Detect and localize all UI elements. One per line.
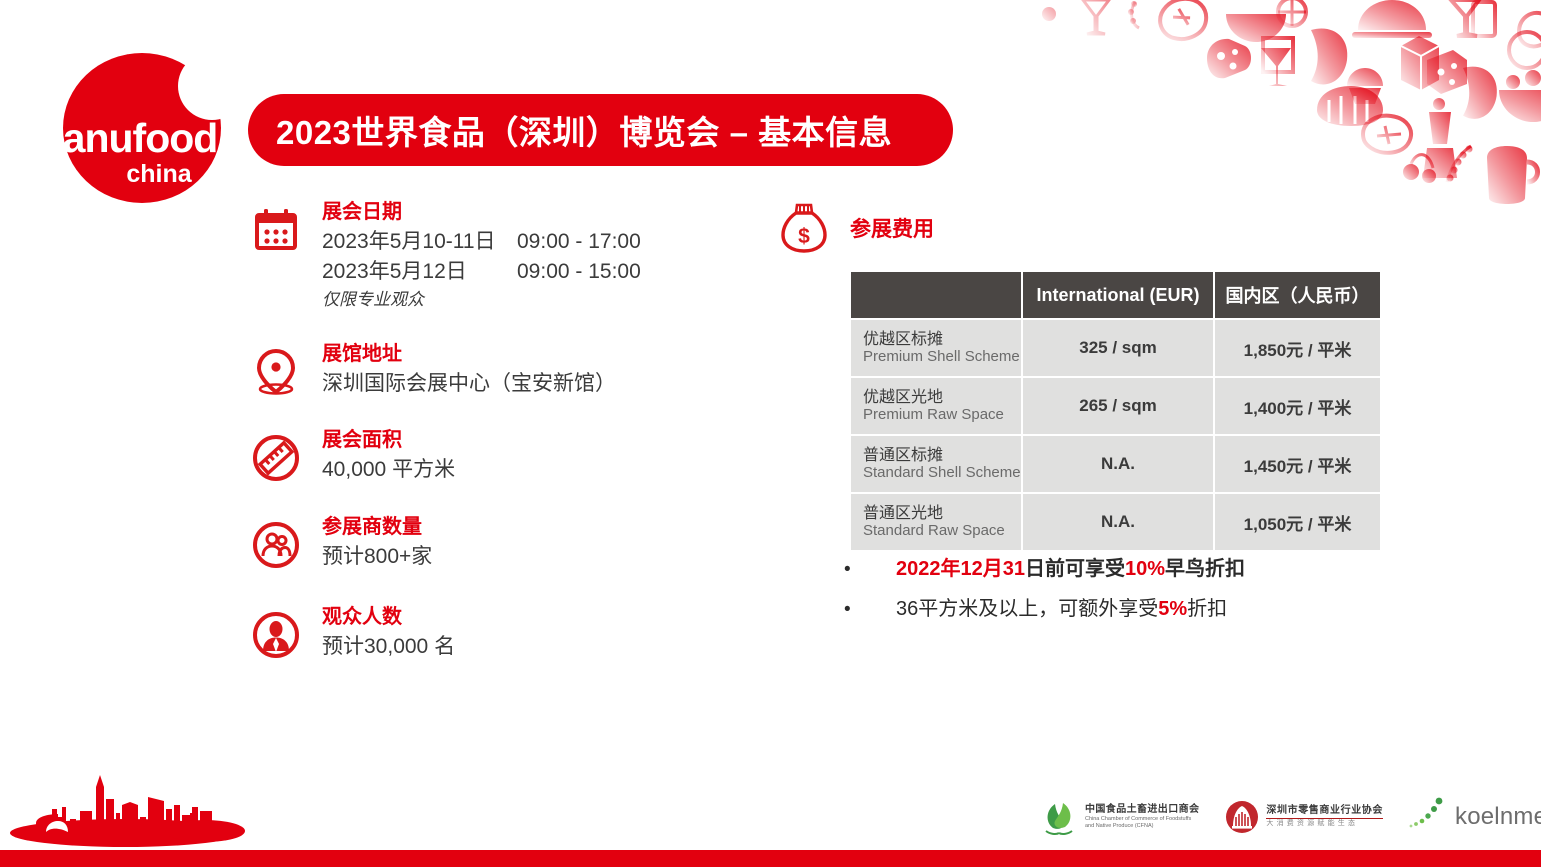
koelnmesse-dots-icon — [1409, 797, 1451, 837]
logo-subword: china — [126, 160, 192, 188]
page-title-banner: 2023世界食品（深圳）博览会 – 基本信息 — [248, 94, 953, 166]
venue-value: 深圳国际会展中心（宝安新馆） — [322, 369, 748, 399]
cfna-name-zh: 中国食品土畜进出口商会 — [1085, 804, 1199, 817]
cfna-leaf-mark — [1040, 798, 1078, 836]
info-item-venue: 展馆地址 深圳国际会展中心（宝安新馆） — [248, 342, 748, 400]
time-value: 09:00 - 17:00 — [517, 227, 641, 257]
table-header-international: International (EUR) — [1023, 272, 1213, 318]
row-label-en: Premium Shell Scheme — [863, 349, 1021, 366]
anufood-china-logo: anufood china — [62, 52, 227, 204]
info-item-exhibitors: 参展商数量 预计800+家 — [248, 515, 748, 573]
calendar-icon — [248, 202, 304, 258]
page-title: 2023世界食品（深圳）博览会 – 基本信息 — [276, 106, 892, 154]
cell-international: 265 / sqm — [1023, 378, 1213, 434]
cell-domestic: 1,050元 / 平米 — [1215, 494, 1380, 550]
bottom-red-bar — [0, 850, 1541, 867]
row-label: 普通区光地 Standard Raw Space — [851, 494, 1021, 550]
fee-section-title: 参展费用 — [850, 213, 934, 243]
row-label-en: Standard Raw Space — [863, 523, 1021, 540]
cell-international: 325 / sqm — [1023, 320, 1213, 376]
row-label: 优越区标摊 Premium Shell Scheme — [851, 320, 1021, 376]
discount-part: 10% — [1125, 558, 1165, 580]
cfna-name-en1: China Chamber of Commerce of Foodstuffs — [1085, 816, 1199, 823]
shenzhen-skyline-graphic — [0, 769, 330, 849]
location-pin-icon — [248, 344, 304, 400]
row-label-zh: 优越区标摊 — [863, 331, 1021, 349]
food-icons-pattern — [1011, 0, 1541, 230]
info-heading: 展馆地址 — [322, 342, 748, 367]
money-bag-icon: $ — [778, 200, 830, 256]
shenzhen-retail-association-logo: 深圳市零售商业行业协会 大消费资源赋能生态 — [1225, 796, 1383, 838]
info-item-dates: 展会日期 2023年5月10-11日 09:00 - 17:00 2023年5月… — [248, 200, 748, 312]
table-row: 优越区光地 Premium Raw Space 265 / sqm 1,400元… — [851, 378, 1380, 434]
discount-part: 2022年12月31 — [896, 558, 1025, 580]
discount-part: 早鸟折扣 — [1165, 558, 1245, 580]
row-label-en: Premium Raw Space — [863, 407, 1021, 424]
pricing-table: International (EUR) 国内区（人民币） 优越区标摊 Premi… — [849, 270, 1382, 552]
row-label: 普通区标摊 Standard Shell Scheme — [851, 436, 1021, 492]
cell-domestic: 1,400元 / 平米 — [1215, 378, 1380, 434]
table-row: 普通区标摊 Standard Shell Scheme N.A. 1,450元 … — [851, 436, 1380, 492]
cell-domestic: 1,450元 / 平米 — [1215, 436, 1380, 492]
area-value: 40,000 平方米 — [322, 455, 748, 485]
discount-bullet: • 36平方米及以上，可额外享受5%折扣 — [838, 596, 1398, 622]
discount-part: 日前可享受 — [1025, 558, 1125, 580]
discount-notes: • 2022年12月31日前可享受10%早鸟折扣 • 36平方米及以上，可额外享… — [838, 556, 1398, 636]
info-heading: 展会日期 — [322, 200, 748, 225]
cell-international: N.A. — [1023, 494, 1213, 550]
pricing-table-head: International (EUR) 国内区（人民币） — [851, 272, 1380, 318]
partner-logos: 中国食品土畜进出口商会 China Chamber of Commerce of… — [1040, 794, 1541, 840]
row-label-zh: 普通区光地 — [863, 505, 1021, 523]
date-value: 2023年5月12日 — [322, 257, 517, 287]
cell-domestic: 1,850元 / 平米 — [1215, 320, 1380, 376]
info-heading: 参展商数量 — [322, 515, 748, 540]
discount-text-area: 36平方米及以上，可额外享受5%折扣 — [896, 596, 1227, 622]
cfna-logo-text: 中国食品土畜进出口商会 China Chamber of Commerce of… — [1085, 804, 1199, 831]
row-label-zh: 优越区光地 — [863, 389, 1021, 407]
row-label-en: Standard Shell Scheme — [863, 465, 1021, 482]
event-info-list: 展会日期 2023年5月10-11日 09:00 - 17:00 2023年5月… — [248, 200, 748, 689]
pricing-table-body: 优越区标摊 Premium Shell Scheme 325 / sqm 1,8… — [851, 320, 1380, 550]
logo-wordmark: anufood — [63, 115, 218, 161]
table-header-domestic: 国内区（人民币） — [1215, 272, 1380, 318]
table-row: 普通区光地 Standard Raw Space N.A. 1,050元 / 平… — [851, 494, 1380, 550]
date-row: 2023年5月10-11日 09:00 - 17:00 — [322, 227, 748, 257]
discount-part: 5% — [1158, 598, 1187, 620]
visitors-value: 预计30,000 名 — [322, 632, 748, 662]
cfna-name-en2: and Native Produce (CFNA) — [1085, 823, 1199, 830]
discount-bullet: • 2022年12月31日前可享受10%早鸟折扣 — [838, 556, 1398, 582]
two-people-circle-icon — [248, 517, 304, 573]
szr-logo-text: 深圳市零售商业行业协会 大消费资源赋能生态 — [1266, 805, 1383, 830]
audience-note: 仅限专业观众 — [322, 287, 748, 313]
koelnmesse-wordmark: koelnmesse — [1455, 803, 1541, 831]
slide-canvas: anufood china 2023世界食品（深圳）博览会 – 基本信息 — [0, 0, 1541, 867]
koelnmesse-logo: koelnmesse — [1409, 796, 1541, 838]
info-heading: 观众人数 — [322, 605, 748, 630]
table-row: 优越区标摊 Premium Shell Scheme 325 / sqm 1,8… — [851, 320, 1380, 376]
date-value: 2023年5月10-11日 — [322, 227, 517, 257]
discount-text-early-bird: 2022年12月31日前可享受10%早鸟折扣 — [896, 556, 1245, 582]
szr-name-zh: 深圳市零售商业行业协会 — [1266, 805, 1383, 820]
ruler-circle-icon — [248, 430, 304, 486]
discount-part: 折扣 — [1187, 598, 1227, 620]
person-circle-icon — [248, 607, 304, 663]
szr-emblem — [1225, 800, 1259, 834]
exhibitors-value: 预计800+家 — [322, 542, 748, 572]
info-item-visitors: 观众人数 预计30,000 名 — [248, 605, 748, 663]
bullet-marker: • — [838, 599, 896, 621]
svg-text:$: $ — [798, 225, 810, 248]
info-item-area: 展会面积 40,000 平方米 — [248, 428, 748, 486]
table-header-row: International (EUR) 国内区（人民币） — [851, 272, 1380, 318]
row-label-zh: 普通区标摊 — [863, 447, 1021, 465]
cfna-logo: 中国食品土畜进出口商会 China Chamber of Commerce of… — [1040, 796, 1199, 838]
time-value: 09:00 - 15:00 — [517, 257, 641, 287]
date-row: 2023年5月12日 09:00 - 15:00 — [322, 257, 748, 287]
cell-international: N.A. — [1023, 436, 1213, 492]
row-label: 优越区光地 Premium Raw Space — [851, 378, 1021, 434]
info-heading: 展会面积 — [322, 428, 748, 453]
discount-part: 36平方米及以上，可额外享受 — [896, 598, 1158, 620]
szr-tagline: 大消费资源赋能生态 — [1266, 819, 1383, 830]
fee-section-header: $ 参展费用 — [778, 200, 934, 256]
bullet-marker: • — [838, 559, 896, 581]
table-header-corner — [851, 272, 1021, 318]
